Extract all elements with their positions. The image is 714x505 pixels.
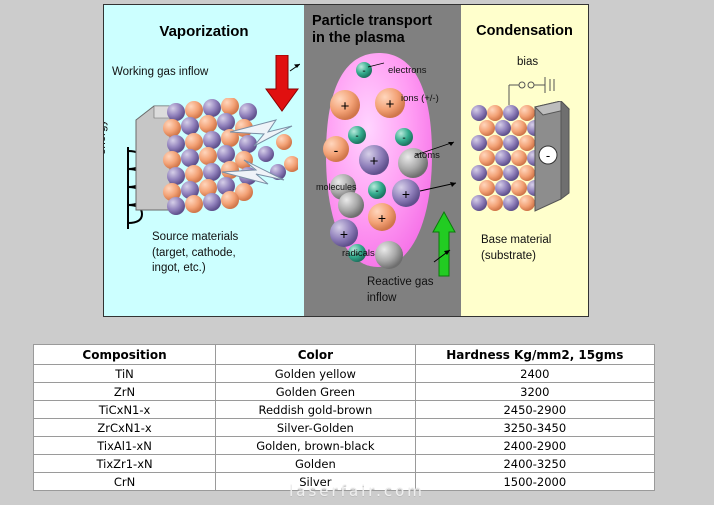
svg-text:+: + bbox=[402, 186, 410, 202]
cell-composition: TiN bbox=[34, 365, 216, 383]
cell-hardness: 2400 bbox=[415, 365, 654, 383]
electrons-label: electrons bbox=[388, 65, 427, 78]
cell-hardness: 3250-3450 bbox=[415, 419, 654, 437]
base-material-line1: Base material bbox=[481, 233, 551, 249]
table-header-row: Composition Color Hardness Kg/mm2, 15gms bbox=[34, 345, 655, 365]
cell-composition: TixAl1-xN bbox=[34, 437, 216, 455]
source-materials-line3: ingot, etc.) bbox=[152, 261, 238, 277]
panel-vaporization: Vaporization Working gas inflow energy bbox=[104, 5, 304, 316]
column-header-color: Color bbox=[216, 345, 416, 365]
svg-text:-: - bbox=[362, 66, 365, 77]
svg-text:-: - bbox=[375, 186, 378, 197]
svg-text:+: + bbox=[340, 226, 348, 242]
cell-composition: TiCxN1-x bbox=[34, 401, 216, 419]
working-gas-inflow-label: Working gas inflow bbox=[112, 65, 208, 81]
cell-color: Reddish gold-brown bbox=[216, 401, 416, 419]
svg-text:+: + bbox=[341, 98, 350, 115]
table-row: ZrN Golden Green 3200 bbox=[34, 383, 655, 401]
reactive-gas-line1: Reactive gas bbox=[367, 275, 433, 291]
base-material-caption: Base material (substrate) bbox=[481, 233, 551, 264]
table-row: ZrCxN1-x Silver-Golden 3250-3450 bbox=[34, 419, 655, 437]
cell-hardness: 3200 bbox=[415, 383, 654, 401]
watermark-text: laserfair.com bbox=[0, 482, 714, 500]
source-materials-caption: Source materials (target, cathode, ingot… bbox=[152, 230, 238, 277]
cell-color: Golden bbox=[216, 455, 416, 473]
molecules-label: molecules bbox=[316, 181, 357, 193]
reactive-gas-line2: inflow bbox=[367, 291, 433, 307]
bias-label: bias bbox=[517, 55, 538, 71]
base-material-line2: (substrate) bbox=[481, 249, 551, 265]
table-row: TiCxN1-x Reddish gold-brown 2450-2900 bbox=[34, 401, 655, 419]
panel-title-condensation: Condensation bbox=[461, 23, 588, 40]
green-up-arrow-icon bbox=[432, 210, 456, 278]
source-materials-line1: Source materials bbox=[152, 230, 238, 246]
panel-particle-transport: Particle transport in the plasma - + + -… bbox=[304, 5, 461, 316]
ions-label: ions (+/-) bbox=[401, 93, 439, 106]
table-row: TiN Golden yellow 2400 bbox=[34, 365, 655, 383]
energy-label: energy bbox=[104, 120, 111, 155]
cell-color: Golden yellow bbox=[216, 365, 416, 383]
cell-color: Golden, brown-black bbox=[216, 437, 416, 455]
radicals-label: radicals bbox=[342, 248, 375, 261]
panel-title-vaporization: Vaporization bbox=[104, 23, 304, 40]
svg-text:+: + bbox=[370, 153, 379, 170]
table-row: TixAl1-xN Golden, brown-black 2400-2900 bbox=[34, 437, 655, 455]
panel-condensation: Condensation bias bbox=[461, 5, 588, 316]
cell-color: Silver-Golden bbox=[216, 419, 416, 437]
cell-color: Golden Green bbox=[216, 383, 416, 401]
column-header-hardness: Hardness Kg/mm2, 15gms bbox=[415, 345, 654, 365]
svg-text:+: + bbox=[386, 96, 395, 113]
substrate-block-icon: - bbox=[469, 101, 581, 236]
cell-composition: ZrCxN1-x bbox=[34, 419, 216, 437]
cell-composition: TixZr1-xN bbox=[34, 455, 216, 473]
cell-hardness: 2400-3250 bbox=[415, 455, 654, 473]
bias-circuit-icon bbox=[501, 71, 563, 105]
table-row: TixZr1-xN Golden 2400-3250 bbox=[34, 455, 655, 473]
cell-hardness: 2400-2900 bbox=[415, 437, 654, 455]
cell-composition: ZrN bbox=[34, 383, 216, 401]
pvd-process-diagram: Vaporization Working gas inflow energy bbox=[103, 4, 589, 317]
atom-lattice-block-icon bbox=[126, 98, 298, 224]
svg-text:-: - bbox=[546, 148, 550, 163]
reactive-gas-inflow-caption: Reactive gas inflow bbox=[367, 275, 433, 306]
svg-text:+: + bbox=[378, 210, 386, 226]
svg-text:-: - bbox=[402, 133, 405, 144]
svg-text:-: - bbox=[334, 142, 339, 158]
coating-properties-table: Composition Color Hardness Kg/mm2, 15gms… bbox=[33, 344, 655, 491]
atoms-label: atoms bbox=[414, 150, 440, 163]
source-materials-line2: (target, cathode, bbox=[152, 246, 238, 262]
svg-text:-: - bbox=[355, 131, 358, 142]
cell-hardness: 2450-2900 bbox=[415, 401, 654, 419]
column-header-composition: Composition bbox=[34, 345, 216, 365]
